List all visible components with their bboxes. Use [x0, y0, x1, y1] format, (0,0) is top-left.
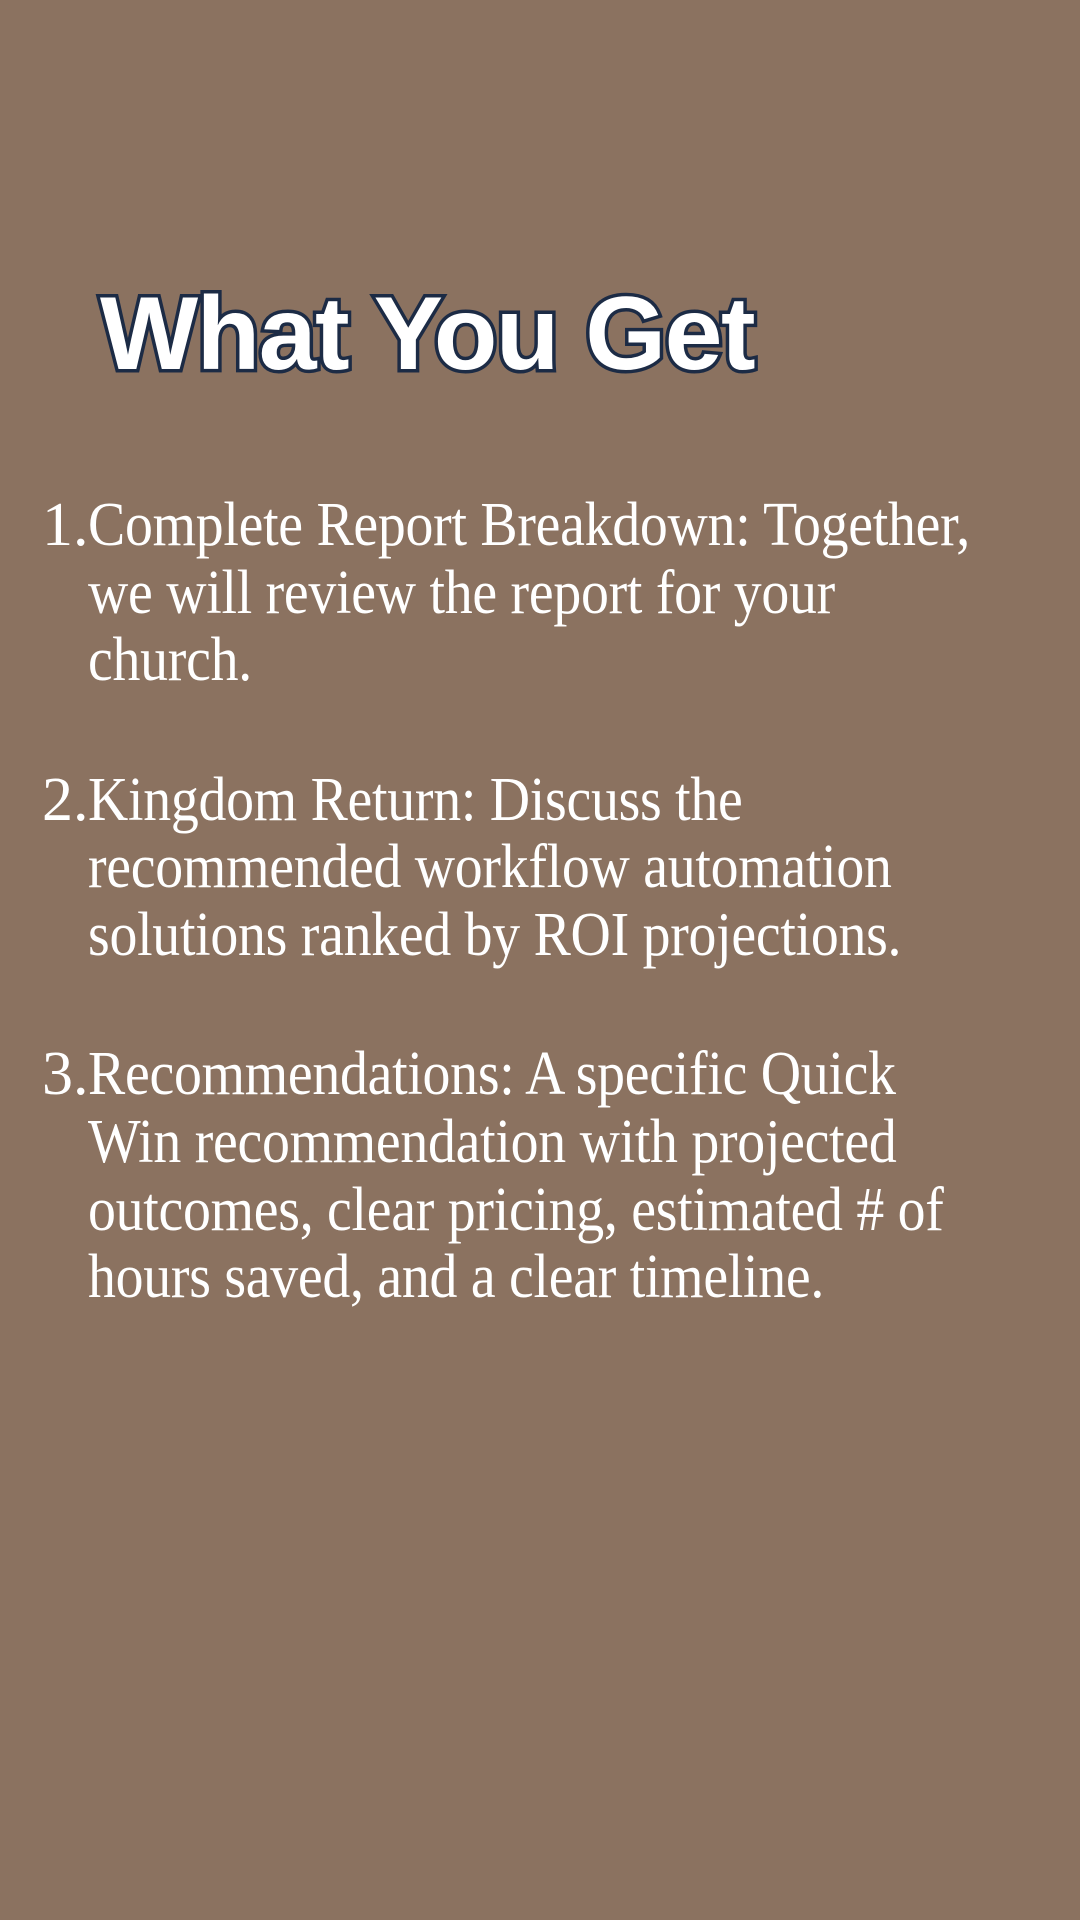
- list-item-number: 1.: [42, 492, 88, 560]
- benefits-list: 1. Complete Report Breakdown: Together, …: [42, 492, 1080, 1312]
- list-item-text: Kingdom Return: Discuss the recommended …: [88, 767, 981, 970]
- slide-root: What You Get 1. Complete Report Breakdow…: [0, 0, 1080, 1920]
- list-item-number: 3.: [42, 1041, 88, 1109]
- list-item-text: Recommendations: A specific Quick Win re…: [88, 1041, 981, 1311]
- list-item: 1. Complete Report Breakdown: Together, …: [42, 492, 1080, 695]
- page-title: What You Get: [100, 282, 1000, 386]
- title-block: What You Get: [100, 282, 1000, 386]
- list-item-text: Complete Report Breakdown: Together, we …: [88, 492, 981, 695]
- list-item: 3. Recommendations: A specific Quick Win…: [42, 1041, 1080, 1311]
- list-item: 2. Kingdom Return: Discuss the recommend…: [42, 767, 1080, 970]
- list-item-number: 2.: [42, 767, 88, 835]
